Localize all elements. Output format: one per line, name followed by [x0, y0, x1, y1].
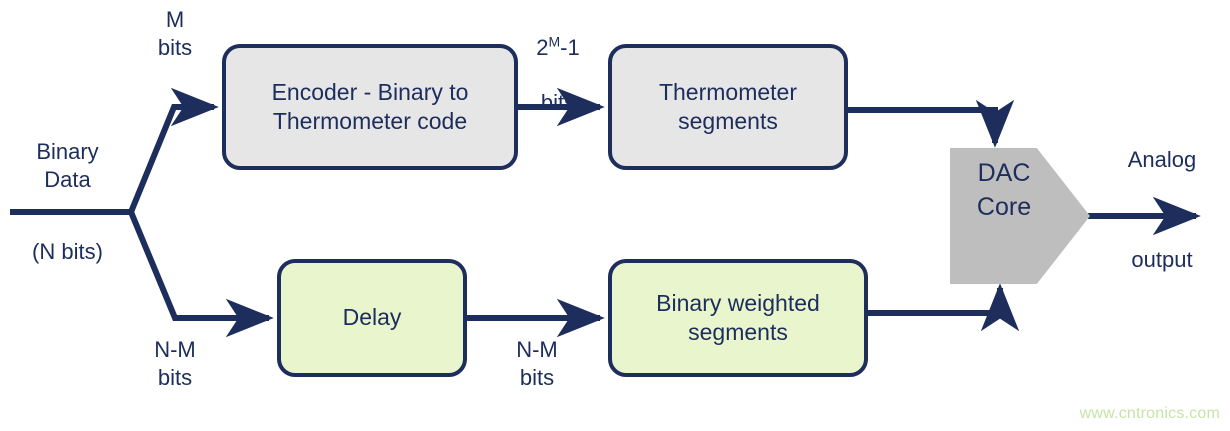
label-2pow-bits-word: bits	[541, 90, 575, 115]
wire-fork-upper	[131, 107, 214, 212]
block-delay[interactable]: Delay	[277, 259, 467, 377]
label-output: output	[1104, 246, 1220, 274]
wire-fork-lower	[131, 212, 269, 318]
watermark: www.cntronics.com	[1080, 405, 1220, 423]
label-2pow-rest: -1	[560, 35, 580, 60]
label-binary-data: Binary Data	[10, 138, 125, 193]
block-encoder[interactable]: Encoder - Binary to Thermometer code	[222, 44, 518, 170]
label-2pow-exponent: M	[549, 33, 561, 49]
block-binary-weighted-segments[interactable]: Binary weighted segments	[608, 259, 868, 377]
label-analog: Analog	[1104, 146, 1220, 174]
block-thermometer-segments-label: Thermometer segments	[612, 78, 844, 137]
label-m-bits: M bits	[140, 6, 210, 61]
block-binary-weighted-segments-label: Binary weighted segments	[612, 289, 864, 348]
label-2pow-base: 2	[536, 35, 548, 60]
wire-thermometer-to-dac	[848, 110, 995, 143]
block-diagram-canvas: Encoder - Binary to Thermometer code The…	[0, 0, 1230, 431]
block-thermometer-segments[interactable]: Thermometer segments	[608, 44, 848, 170]
label-n-bits: (N bits)	[10, 238, 125, 266]
label-2pow-m-minus-1-bits: 2M-1 bits	[508, 6, 608, 116]
label-n-minus-m-bits-input: N-M bits	[130, 336, 220, 391]
wire-binary-weighted-to-dac	[868, 288, 1000, 313]
label-n-minus-m-bits-delayed: N-M bits	[492, 336, 582, 391]
block-delay-label: Delay	[343, 303, 402, 332]
block-encoder-label: Encoder - Binary to Thermometer code	[226, 78, 514, 137]
